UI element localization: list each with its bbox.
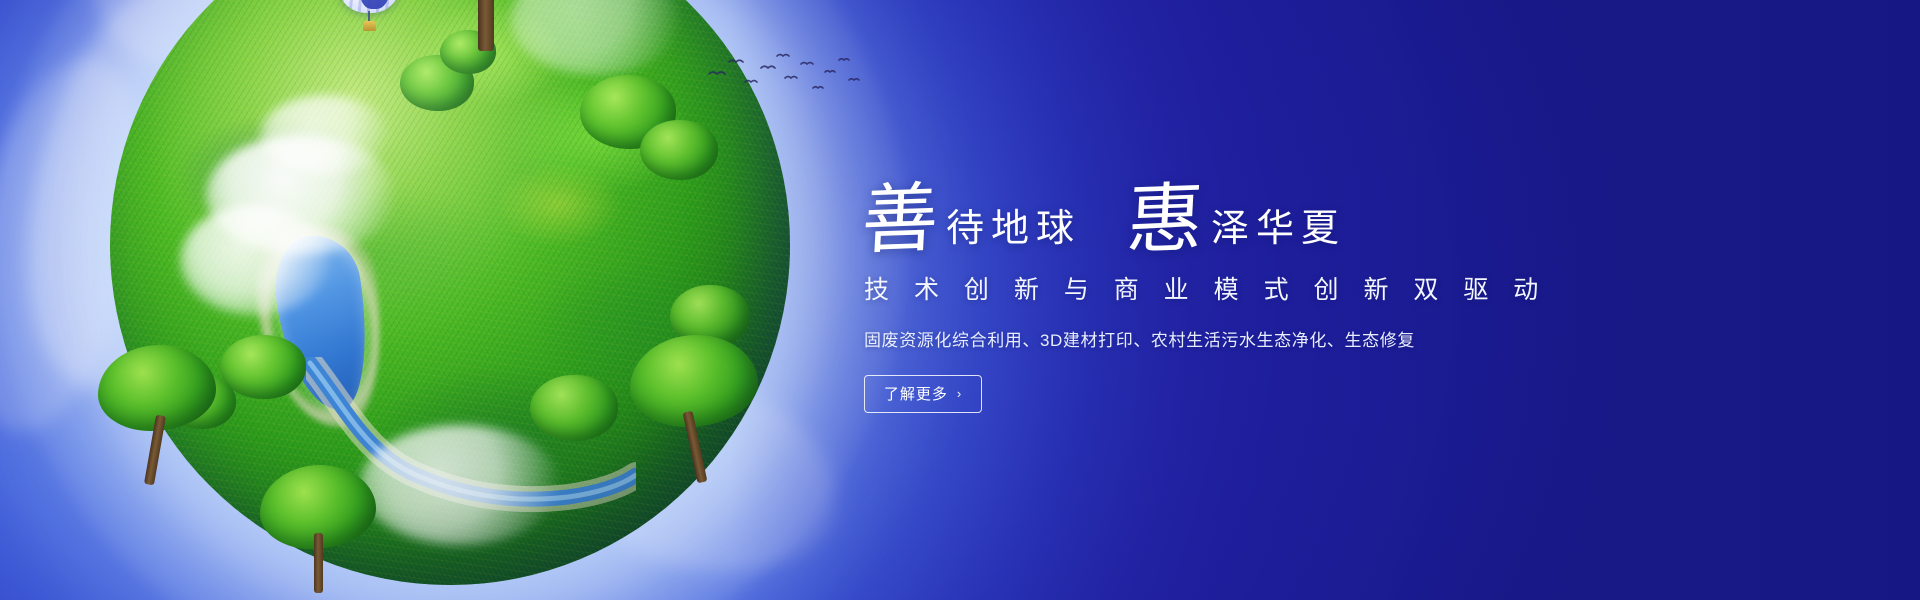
tree-icon [378,0,598,81]
learn-more-label: 了解更多 [884,383,948,404]
hero-banner: 善 待地球 惠 泽华夏 技 术 创 新 与 商 业 模 式 创 新 双 驱 动 … [0,0,1920,600]
globe-rim-layer [110,0,790,585]
hot-air-balloon-icon [338,0,400,37]
chevron-right-icon: › [957,387,962,400]
headline-rest-1: 待地球 [946,210,1081,254]
learn-more-button[interactable]: 了解更多 › [864,375,982,413]
headline-group-1: 善 待地球 [862,187,1081,254]
headline-lead-1: 善 [860,186,948,256]
headline-rest-2: 泽华夏 [1211,210,1346,254]
birds-flock-icon [705,48,865,104]
banner-subtitle: 技 术 创 新 与 商 业 模 式 创 新 双 驱 动 [864,270,1582,306]
tree-icon [98,345,218,495]
earth-globe-icon [110,0,790,585]
headline-lead-2: 惠 [1125,186,1213,256]
tree-icon [260,465,380,600]
headline: 善 待地球 惠 泽华夏 [862,187,1582,254]
headline-group-2: 惠 泽华夏 [1127,187,1346,254]
tree-icon [630,335,760,495]
globe-illustration [110,0,790,585]
banner-content: 善 待地球 惠 泽华夏 技 术 创 新 与 商 业 模 式 创 新 双 驱 动 … [862,0,1582,600]
banner-description: 固废资源化综合利用、3D建材打印、农村生活污水生态净化、生态修复 [864,326,1582,351]
